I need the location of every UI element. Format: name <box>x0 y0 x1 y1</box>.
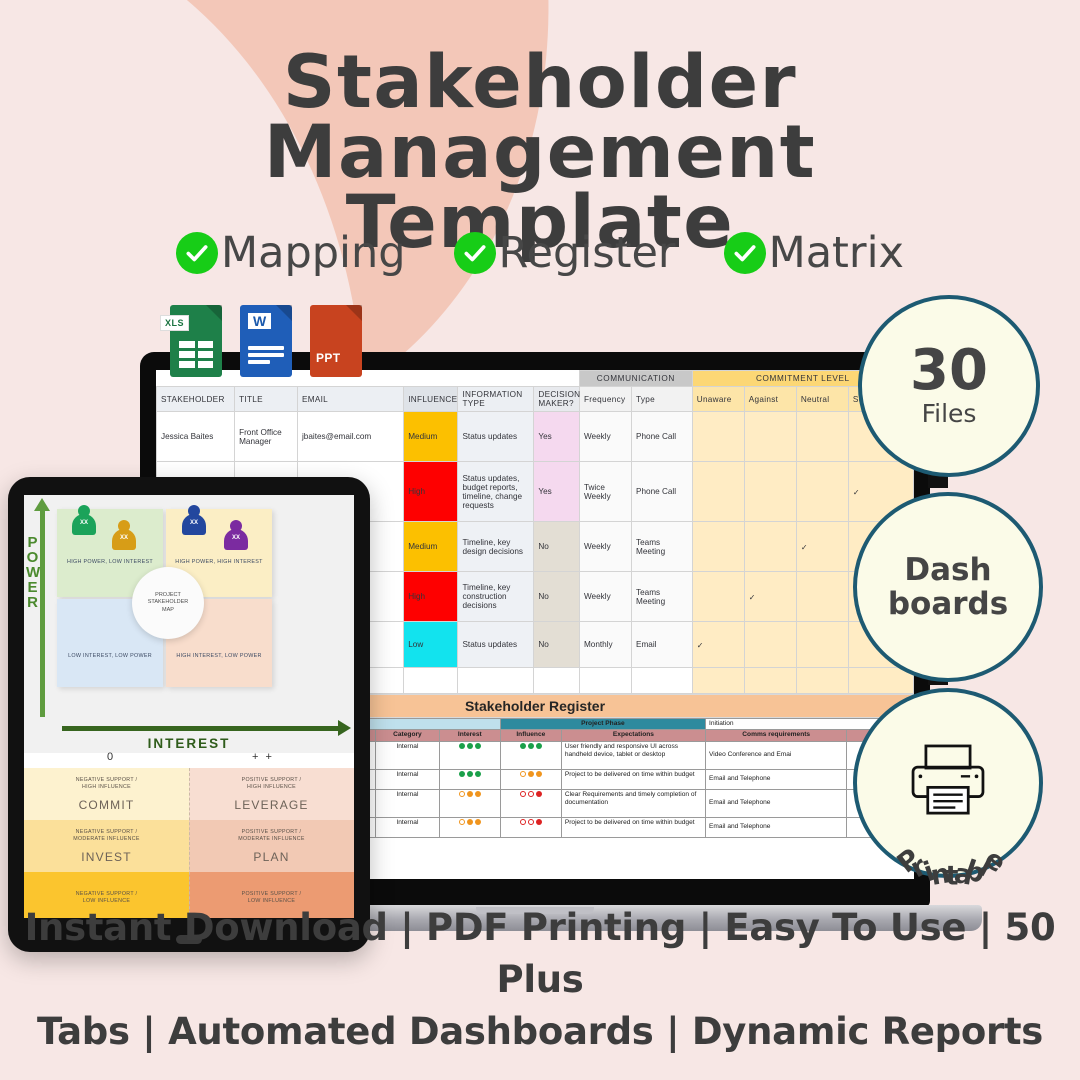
reg-cell-comms: Video Conference and Emai <box>706 741 847 769</box>
badge-files-label: Files <box>922 399 977 428</box>
influence-dots <box>520 819 542 825</box>
support-influence-matrix: 0 + + NEGATIVE SUPPORT /HIGH INFLUENCECO… <box>24 753 354 918</box>
map-center-label: PROJECT STAKEHOLDER MAP <box>132 567 204 639</box>
feature-matrix: Matrix <box>724 228 904 278</box>
cell-influence: Low <box>404 622 458 668</box>
check-circle-icon <box>176 232 218 274</box>
cell-decision-maker: Yes <box>534 412 580 462</box>
col-stakeholder: STAKEHOLDER <box>157 387 235 412</box>
cell-against[interactable] <box>744 412 796 462</box>
cell-information-type: Status updates <box>458 622 534 668</box>
ppt-file-icon: PPT <box>310 305 362 377</box>
scale-zero: 0 <box>107 751 113 763</box>
cell-frequency: Weekly <box>579 522 631 572</box>
matrix-cell-leverage[interactable]: POSITIVE SUPPORT /HIGH INFLUENCELEVERAGE <box>189 768 354 820</box>
reg-cell-expectations: Project to be delivered on time within b… <box>561 818 705 838</box>
check-circle-icon <box>724 232 766 274</box>
cell-comm-type: Teams Meeting <box>632 522 693 572</box>
page-title: Stakeholder Management Template <box>0 48 1080 258</box>
person-badge: XX <box>112 535 136 541</box>
cell-against[interactable] <box>744 522 796 572</box>
reg-cell-interest <box>439 818 500 838</box>
interest-dots <box>459 743 481 749</box>
reg-cell-comms: Email and Telephone <box>706 770 847 790</box>
cell-decision-maker: No <box>534 522 580 572</box>
footer-line-2: Tabs | Automated Dashboards | Dynamic Re… <box>0 1006 1080 1058</box>
influence-dots <box>520 743 542 749</box>
footer-line-1: Instant Download | PDF Printing | Easy T… <box>0 902 1080 1006</box>
feature-label: Mapping <box>221 228 406 278</box>
cell-frequency: Twice Weekly <box>579 462 631 522</box>
column-header-row: STAKEHOLDER TITLE EMAIL INFLUENCE INFORM… <box>157 387 914 412</box>
stakeholder-power-interest-map: POWER INTEREST HIGH POWER, LOW INTEREST … <box>24 495 354 753</box>
col-against: Against <box>744 387 796 412</box>
matrix-cell-sub: POSITIVE SUPPORT /MODERATE INFLUENCE <box>238 829 305 844</box>
person-badge: XX <box>182 520 206 526</box>
cell-information-type: Status updates <box>458 412 534 462</box>
cell-comm-type: Phone Call <box>632 412 693 462</box>
scale-plus: + + <box>252 751 274 763</box>
cell-decision-maker: No <box>534 572 580 622</box>
quadrant-label: HIGH POWER, HIGH INTEREST <box>170 559 268 566</box>
person-purple-icon: XX <box>224 520 248 550</box>
axis-label-interest: INTEREST <box>24 736 354 751</box>
reg-col-category: Category <box>376 730 440 741</box>
cell-neutral[interactable] <box>796 412 848 462</box>
reg-col-interest: Interest <box>439 730 500 741</box>
feature-label: Matrix <box>769 228 904 278</box>
reg-cell-influence <box>500 818 561 838</box>
col-decision-maker: DECISION MAKER? <box>534 387 580 412</box>
word-file-label: W <box>248 313 271 329</box>
reg-cell-category: Internal <box>376 741 440 769</box>
badge-dashboards[interactable]: Dash boards <box>853 492 1043 682</box>
badge-dash-line-1: Dash <box>904 553 991 587</box>
cell-comm-type: Email <box>632 622 693 668</box>
cell-against[interactable] <box>744 622 796 668</box>
influence-dots <box>520 791 542 797</box>
cell-influence: High <box>404 462 458 522</box>
feature-mapping: Mapping <box>176 228 406 278</box>
badge-files-number: 30 <box>910 345 988 397</box>
cell-unaware[interactable] <box>692 572 744 622</box>
quadrant-label: LOW INTEREST, LOW POWER <box>61 653 159 660</box>
cell-unaware[interactable] <box>692 412 744 462</box>
matrix-cell-invest[interactable]: NEGATIVE SUPPORT /MODERATE INFLUENCEINVE… <box>24 820 189 872</box>
reg-cell-influence <box>500 789 561 817</box>
center-line-1: PROJECT <box>155 592 181 600</box>
cell-decision-maker: Yes <box>534 462 580 522</box>
check-circle-icon <box>454 232 496 274</box>
axis-label-power: POWER <box>26 535 40 610</box>
badge-files[interactable]: 30 Files <box>858 295 1040 477</box>
matrix-divider <box>189 768 190 918</box>
reg-cell-interest <box>439 789 500 817</box>
quadrant-label: HIGH INTEREST, LOW POWER <box>170 653 268 660</box>
reg-cell-influence <box>500 741 561 769</box>
table-row[interactable]: Jessica Baites Front Office Manager jbai… <box>157 412 914 462</box>
cell-neutral[interactable]: ✓ <box>796 522 848 572</box>
cell-influence: High <box>404 572 458 622</box>
tablet-mockup: POWER INTEREST HIGH POWER, LOW INTEREST … <box>8 477 370 952</box>
badge-dash-line-2: boards <box>888 587 1008 621</box>
cell-frequency: Weekly <box>579 572 631 622</box>
matrix-cell-sub: NEGATIVE SUPPORT /HIGH INFLUENCE <box>76 777 138 792</box>
reg-cell-interest <box>439 741 500 769</box>
matrix-cell-commit[interactable]: NEGATIVE SUPPORT /HIGH INFLUENCECOMMIT <box>24 768 189 820</box>
power-axis-arrow-icon <box>40 509 45 717</box>
person-gold-icon: XX <box>112 520 136 550</box>
interest-dots <box>459 819 481 825</box>
col-email: EMAIL <box>297 387 403 412</box>
matrix-cell-title: LEVERAGE <box>234 798 308 812</box>
cell-frequency: Weekly <box>579 412 631 462</box>
reg-cell-interest <box>439 770 500 790</box>
cell-influence: Medium <box>404 522 458 572</box>
cell-comm-type: Phone Call <box>632 462 693 522</box>
cell-against[interactable] <box>744 462 796 522</box>
person-badge: XX <box>224 535 248 541</box>
cell-unaware[interactable] <box>692 522 744 572</box>
project-phase-label: Project Phase <box>500 719 705 730</box>
tablet-screen: POWER INTEREST HIGH POWER, LOW INTEREST … <box>24 495 354 918</box>
badge-printable-label: Printable <box>857 808 1039 868</box>
cell-information-type: Status updates, budget reports, timeline… <box>458 462 534 522</box>
cell-comm-type: Teams Meeting <box>632 572 693 622</box>
title-line-1: Stakeholder Management <box>0 48 1080 188</box>
feature-label: Register <box>499 228 676 278</box>
reg-cell-expectations: User friendly and responsive UI across h… <box>561 741 705 769</box>
file-format-icons: XLS W PPT <box>170 305 362 377</box>
cell-decision-maker: No <box>534 622 580 668</box>
cell-information-type: Timeline, key design decisions <box>458 522 534 572</box>
col-information-type: INFORMATION TYPE <box>458 387 534 412</box>
matrix-cell-plan[interactable]: POSITIVE SUPPORT /MODERATE INFLUENCEPLAN <box>189 820 354 872</box>
interest-dots <box>459 771 481 777</box>
reg-cell-expectations: Clear Requirements and timely completion… <box>561 789 705 817</box>
center-line-2: STAKEHOLDER <box>148 599 189 607</box>
feature-register: Register <box>454 228 676 278</box>
reg-cell-category: Internal <box>376 789 440 817</box>
col-type: Type <box>632 387 693 412</box>
cell-against[interactable]: ✓ <box>744 572 796 622</box>
xls-file-icon: XLS <box>170 305 222 377</box>
cell-title: Front Office Manager <box>235 412 298 462</box>
cell-email: jbaites@email.com <box>297 412 403 462</box>
matrix-cell-title: INVEST <box>81 850 132 864</box>
interest-axis-arrow-icon <box>62 726 340 731</box>
person-green-icon: XX <box>72 505 96 535</box>
cell-stakeholder: Jessica Baites <box>157 412 235 462</box>
col-influence: INFLUENCE <box>404 387 458 412</box>
reg-cell-category: Internal <box>376 770 440 790</box>
badge-printable[interactable]: Printable <box>853 688 1043 878</box>
reg-cell-comms: Email and Telephone <box>706 818 847 838</box>
reg-cell-category: Internal <box>376 818 440 838</box>
cell-frequency: Monthly <box>579 622 631 668</box>
matrix-scale: 0 + + <box>24 753 354 768</box>
reg-cell-influence <box>500 770 561 790</box>
interest-dots <box>459 791 481 797</box>
matrix-cell-sub: POSITIVE SUPPORT /HIGH INFLUENCE <box>242 777 302 792</box>
footer-text: Instant Download | PDF Printing | Easy T… <box>0 902 1080 1058</box>
feature-list: Mapping Register Matrix <box>0 228 1080 278</box>
cell-unaware[interactable] <box>692 462 744 522</box>
cell-information-type: Timeline, key construction decisions <box>458 572 534 622</box>
ppt-file-label: PPT <box>316 351 341 365</box>
matrix-cell-sub: NEGATIVE SUPPORT /MODERATE INFLUENCE <box>73 829 140 844</box>
col-frequency: Frequency <box>579 387 631 412</box>
cell-neutral[interactable] <box>796 462 848 522</box>
col-title: TITLE <box>235 387 298 412</box>
center-line-3: MAP <box>162 607 174 615</box>
person-badge: XX <box>72 520 96 526</box>
word-file-icon: W <box>240 305 292 377</box>
matrix-cell-title: COMMIT <box>79 798 135 812</box>
col-unaware: Unaware <box>692 387 744 412</box>
group-header-communication: COMMUNICATION <box>579 371 692 387</box>
cell-neutral[interactable] <box>796 622 848 668</box>
cell-influence: Medium <box>404 412 458 462</box>
influence-dots <box>520 771 542 777</box>
person-blue-icon: XX <box>182 505 206 535</box>
printer-icon <box>902 743 994 817</box>
cell-unaware[interactable]: ✓ <box>692 622 744 668</box>
reg-cell-expectations: Project to be delivered on time within b… <box>561 770 705 790</box>
matrix-cell-title: PLAN <box>253 850 289 864</box>
reg-col-comms: Comms requirements <box>706 730 847 741</box>
cell-neutral[interactable] <box>796 572 848 622</box>
col-neutral: Neutral <box>796 387 848 412</box>
xls-file-label: XLS <box>160 315 189 331</box>
reg-cell-comms: Email and Telephone <box>706 789 847 817</box>
reg-col-influence: Influence <box>500 730 561 741</box>
reg-col-expectations: Expectations <box>561 730 705 741</box>
quadrant-label: HIGH POWER, LOW INTEREST <box>61 559 159 566</box>
